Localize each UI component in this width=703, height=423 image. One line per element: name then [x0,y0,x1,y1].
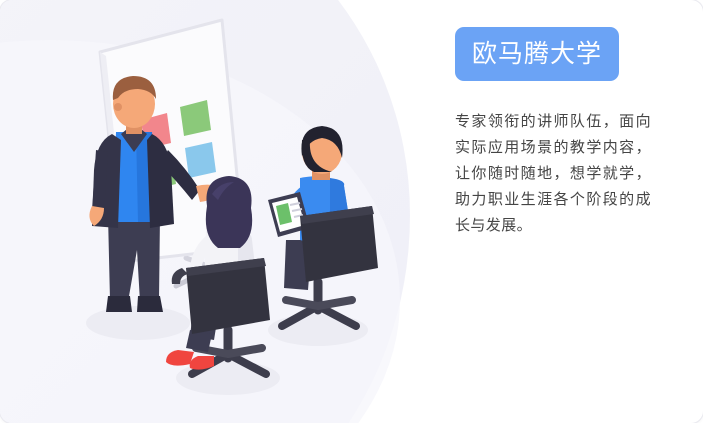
shadow-chair-right [268,314,368,346]
presenter-shoe-right [137,296,163,312]
title-badge: 欧马腾大学 [455,27,619,81]
seated-woman-shoe-left [166,350,194,366]
illustration-classroom [0,0,430,423]
text-column: 欧马腾大学 专家领衔的讲师队伍，面向实际应用场景的教学内容，让你随时随地，想学就… [455,27,655,253]
sticky-note-blue [185,142,216,178]
presenter-ear [114,103,122,111]
presenter-shoe-left [106,296,132,312]
description-paragraph: 专家领衔的讲师队伍，面向实际应用场景的教学内容，让你随时随地，想学就学，助力职业… [455,108,651,238]
presenter-trousers [108,215,160,302]
seated-woman-leg-lower [186,330,212,352]
seated-man-with-tablet [268,126,378,326]
promo-card: 欧马腾大学 专家领衔的讲师队伍，面向实际应用场景的教学内容，让你随时随地，想学就… [0,0,703,423]
seated-woman-hair [206,176,252,248]
